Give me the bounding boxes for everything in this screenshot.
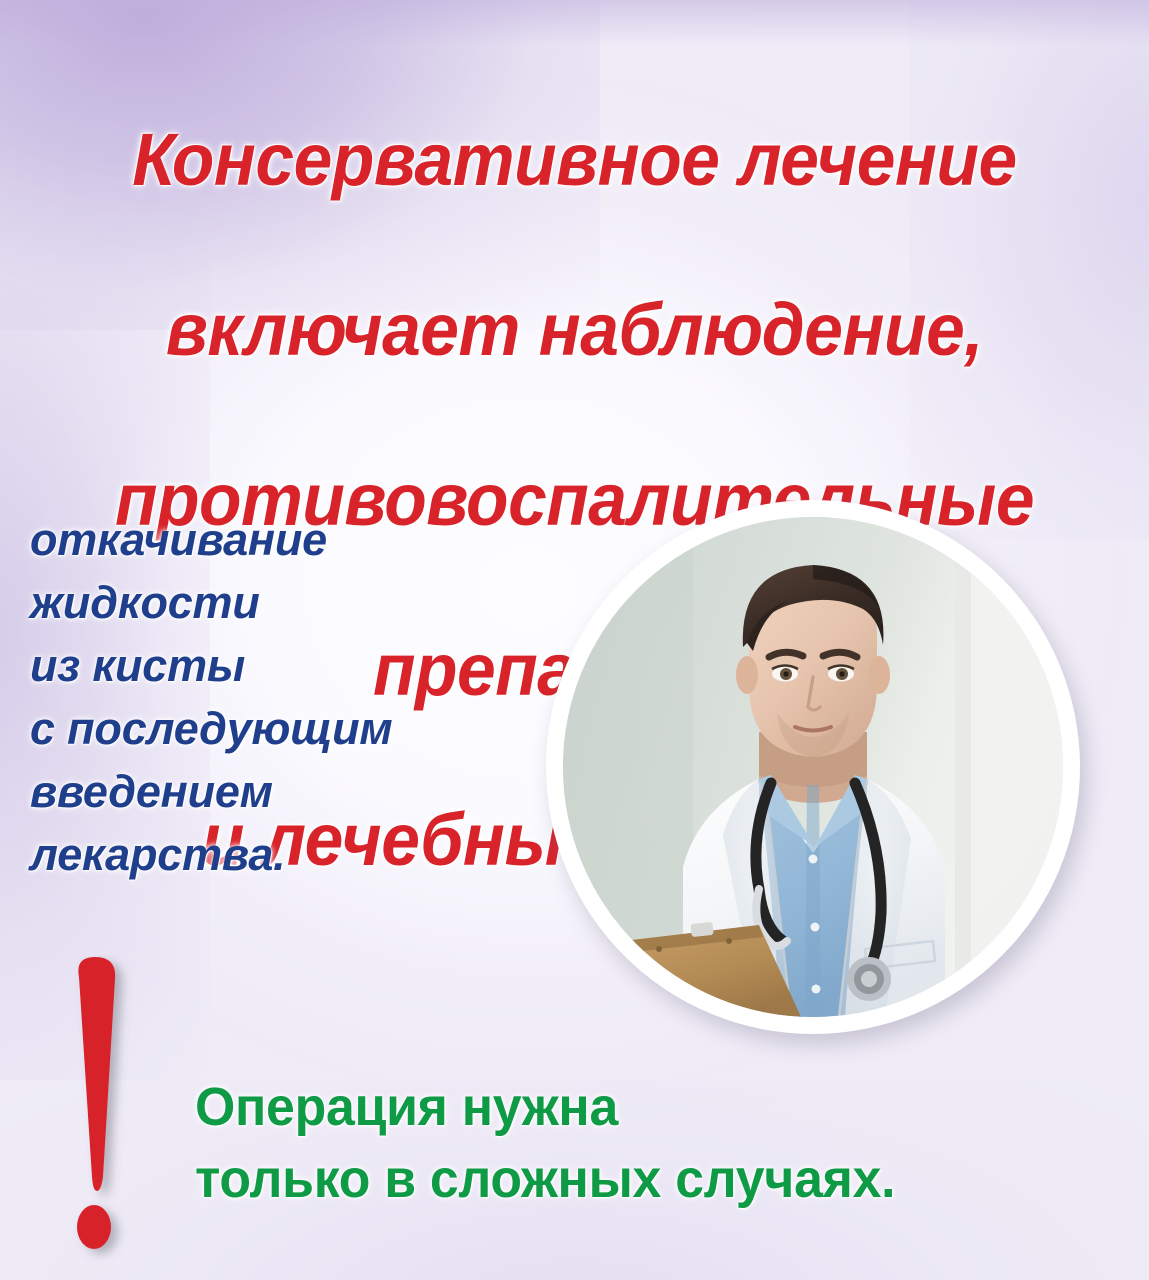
green-line-2: только в сложных случаях. <box>195 1143 1059 1215</box>
blue-line-1: откачивание <box>30 508 530 571</box>
blue-line-2: жидкости <box>30 571 530 634</box>
exclamation-mark-icon <box>55 955 185 1265</box>
blue-line-6: лекарства. <box>30 823 530 886</box>
headline-line-1: Консервативное лечение <box>34 117 1114 202</box>
blue-line-4: с последующим <box>30 697 530 760</box>
green-line-1: Операция нужна <box>195 1071 1059 1143</box>
blue-line-5: введением <box>30 760 530 823</box>
poster-canvas: Консервативное лечение включает наблюден… <box>0 0 1149 1280</box>
callout-text-green: Операция нужна только в сложных случаях. <box>195 1071 1059 1215</box>
doctor-portrait-illustration <box>563 517 1063 1017</box>
body-text-blue: откачивание жидкости из кисты с последую… <box>30 508 530 886</box>
doctor-photo-frame <box>546 500 1080 1034</box>
headline-line-2: включает наблюдение, <box>34 287 1114 372</box>
blue-line-3: из кисты <box>30 634 530 697</box>
doctor-portrait-photo <box>563 517 1063 1017</box>
